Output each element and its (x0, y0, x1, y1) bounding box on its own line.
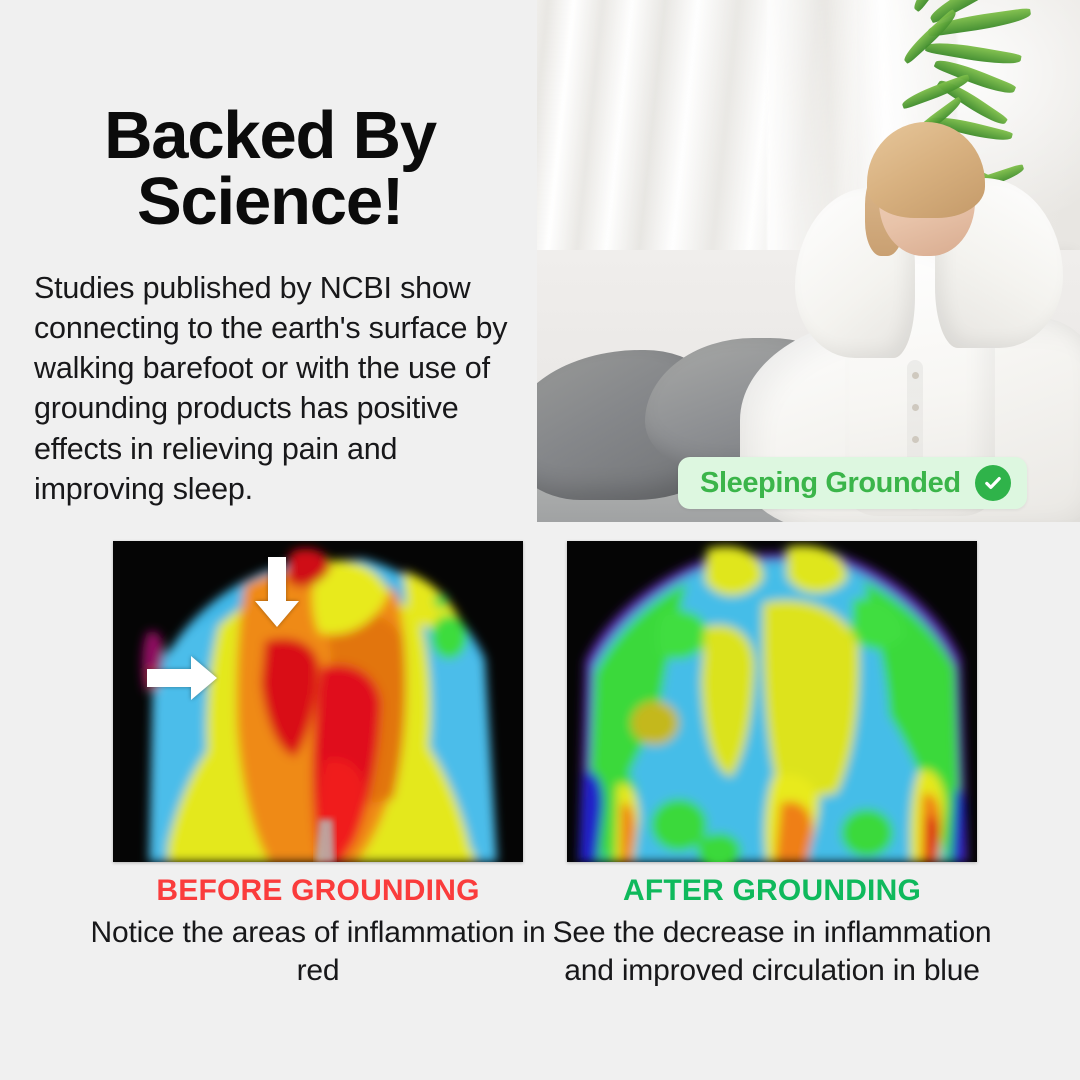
thermal-image-after (567, 541, 977, 862)
hero-photo (537, 0, 1080, 522)
caption-after-text: See the decrease in inflammation and imp… (532, 914, 1012, 991)
status-badge-label: Sleeping Grounded (700, 467, 961, 500)
caption-before-title: BEFORE GROUNDING (78, 874, 558, 908)
person (767, 60, 1067, 510)
check-circle-icon (975, 465, 1011, 501)
page-title-line-2: Science! (40, 169, 500, 235)
status-badge: Sleeping Grounded (678, 457, 1027, 509)
poster-canvas: Backed By Science! Studies published by … (0, 0, 1080, 1080)
page-title: Backed By Science! (40, 103, 500, 234)
caption-after-title: AFTER GROUNDING (532, 874, 1012, 908)
caption-after: AFTER GROUNDING See the decrease in infl… (532, 874, 1012, 991)
caption-before-text: Notice the areas of inflammation in red (78, 914, 558, 991)
page-title-line-1: Backed By (40, 103, 500, 169)
person-hair (867, 122, 985, 218)
lead-paragraph: Studies published by NCBI show connectin… (34, 268, 530, 510)
thermal-image-before (113, 541, 523, 862)
caption-before: BEFORE GROUNDING Notice the areas of inf… (78, 874, 558, 991)
